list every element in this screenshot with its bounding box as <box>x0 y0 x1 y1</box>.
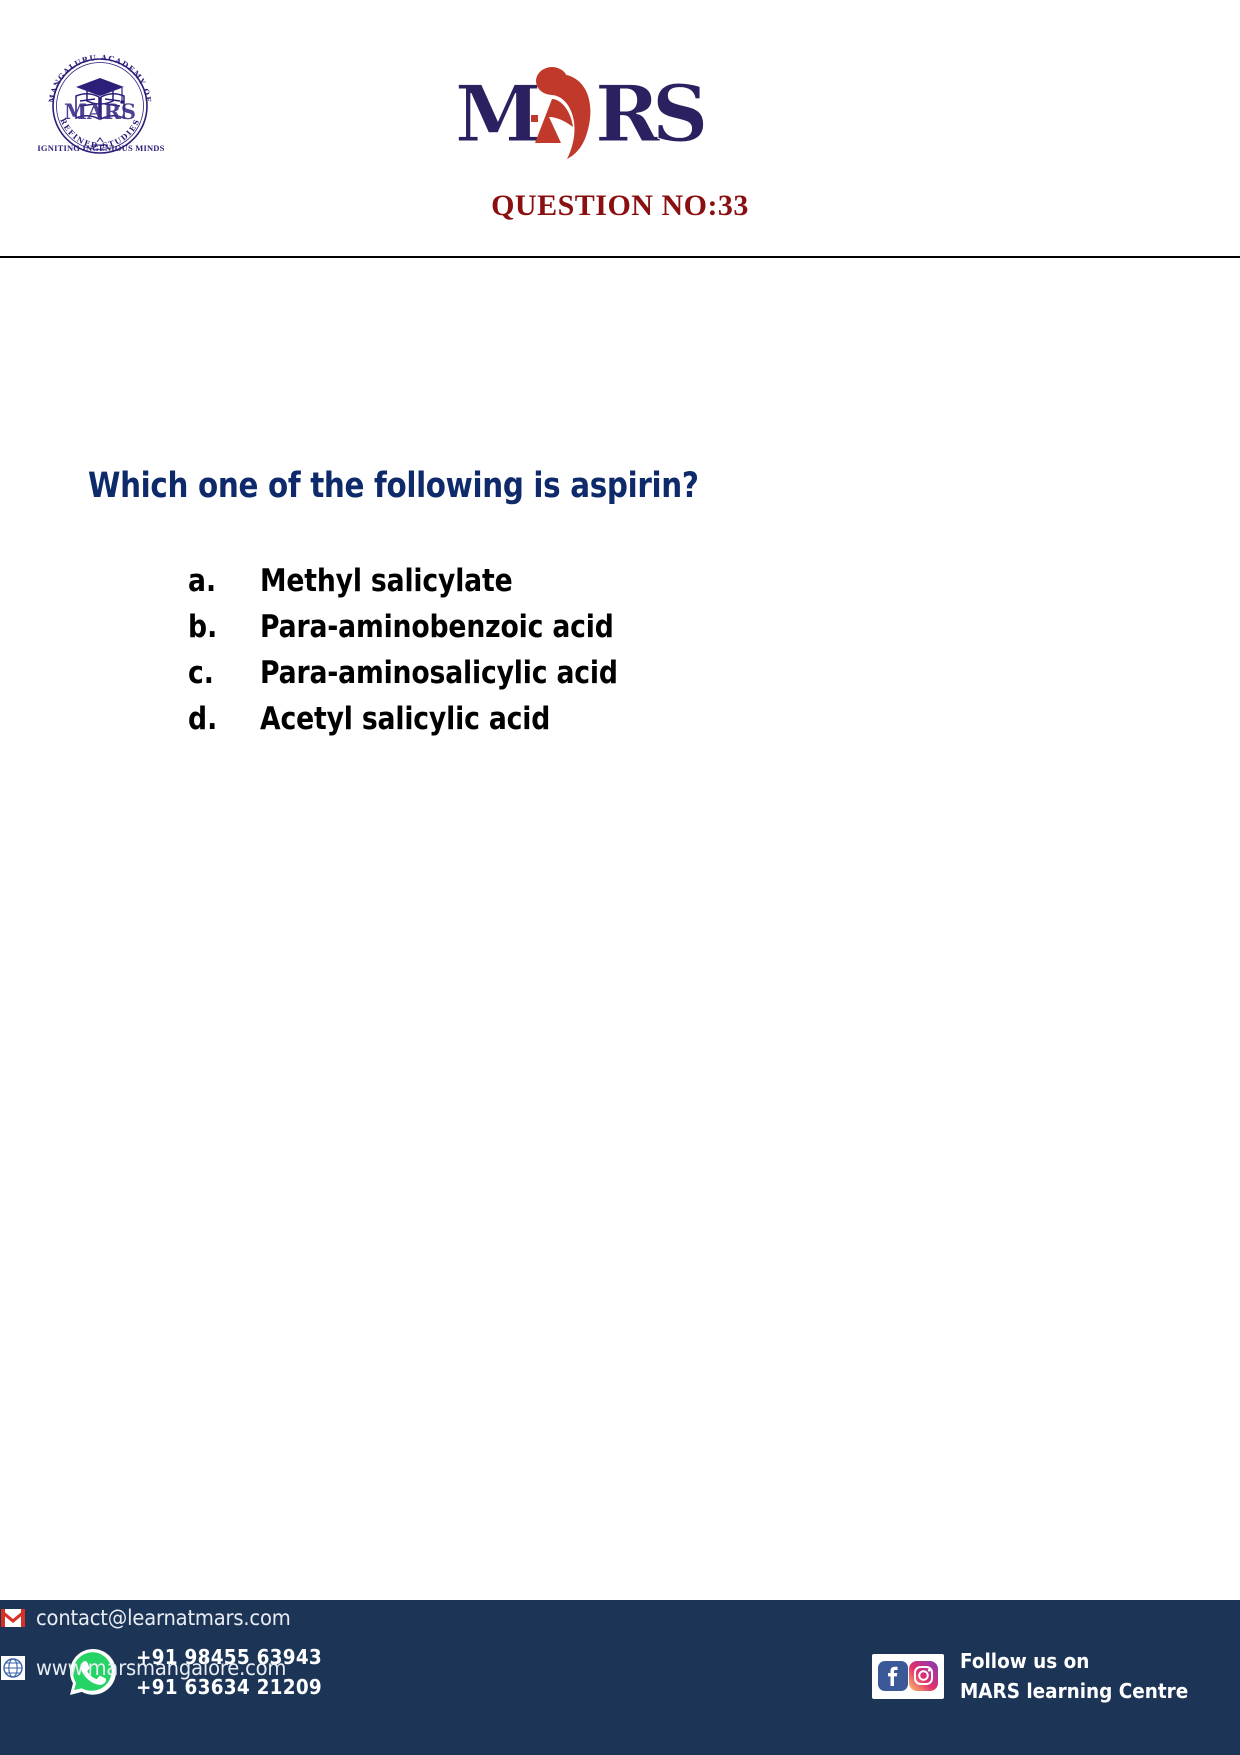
option-a[interactable]: a. Methyl salicylate <box>188 563 1088 609</box>
question-content: Which one of the following is aspirin? a… <box>0 258 1240 1600</box>
svg-text:MARS: MARS <box>64 99 136 124</box>
question-prompt: Which one of the following is aspirin? <box>88 466 699 506</box>
option-d-label: Acetyl salicylic acid <box>260 701 550 737</box>
svg-text:S: S <box>652 69 708 160</box>
option-b-label: Para-aminobenzoic acid <box>260 609 614 645</box>
facebook-icon <box>878 1661 908 1691</box>
options-list: a. Methyl salicylate b. Para-aminobenzoi… <box>188 563 1088 747</box>
option-d-letter: d. <box>188 701 250 737</box>
social-icons-badge[interactable] <box>872 1654 944 1699</box>
option-b[interactable]: b. Para-aminobenzoic acid <box>188 609 1088 655</box>
option-a-letter: a. <box>188 563 250 599</box>
globe-icon <box>0 1655 26 1681</box>
option-c[interactable]: c. Para-aminosalicylic acid <box>188 655 1088 701</box>
email-line[interactable]: contact@learnatmars.com <box>0 1600 1240 1636</box>
option-c-label: Para-aminosalicylic acid <box>260 655 618 691</box>
social-follow-group: Follow us on MARS learning Centre <box>872 1646 1208 1706</box>
seal-tagline: IGNITING INGENIOUS MINDS <box>36 143 166 153</box>
gmail-icon <box>0 1605 26 1631</box>
page-footer: +91 98455 63943 +91 63634 21209 contact@… <box>0 1600 1240 1755</box>
website-url: www.marsmangalore.com <box>36 1656 286 1680</box>
follow-text: Follow us on MARS learning Centre <box>960 1646 1208 1706</box>
follow-line-2: MARS learning Centre <box>960 1676 1188 1706</box>
follow-line-1: Follow us on <box>960 1646 1188 1676</box>
option-d[interactable]: d. Acetyl salicylic acid <box>188 701 1088 747</box>
option-c-letter: c. <box>188 655 250 691</box>
instagram-icon <box>909 1661 938 1691</box>
option-a-label: Methyl salicylate <box>260 563 512 599</box>
page-header: MANGALURU ACADEMY OF REFINED STUDIES <box>0 0 1240 258</box>
option-b-letter: b. <box>188 609 250 645</box>
question-number-heading: QUESTION NO:33 <box>0 189 1240 223</box>
svg-text:M: M <box>455 69 541 160</box>
email-address: contact@learnatmars.com <box>36 1606 291 1630</box>
mars-wordmark-logo: M R S <box>455 55 725 165</box>
